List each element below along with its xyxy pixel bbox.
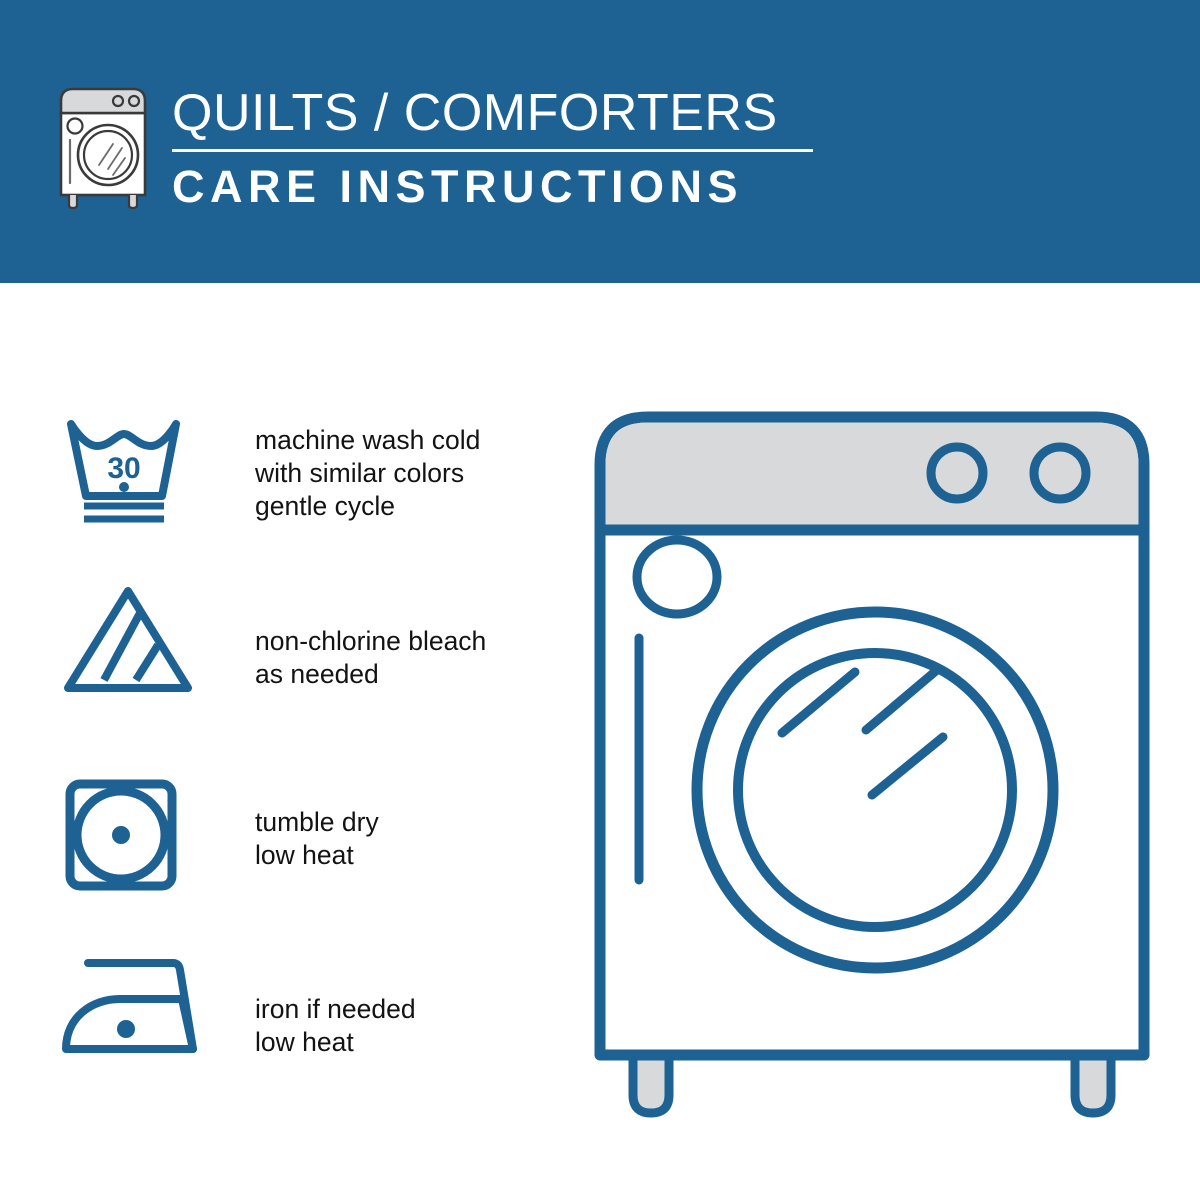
care-item-label: machine wash cold with similar colors ge… <box>255 424 480 523</box>
svg-text:30: 30 <box>107 452 140 485</box>
care-instructions-infographic: QUILTS / COMFORTERS CARE INSTRUCTIONS 30 <box>0 0 1200 1200</box>
care-item-bleach: non-chlorine bleach as needed <box>0 583 560 733</box>
care-item-label: tumble dry low heat <box>255 806 379 872</box>
care-item-machine-wash: 30 machine wash cold with similar colors… <box>0 416 560 566</box>
care-item-iron: iron if needed low heat <box>0 951 560 1101</box>
header-title-block: QUILTS / COMFORTERS CARE INSTRUCTIONS <box>172 83 822 214</box>
bleach-triangle-icon <box>62 583 202 703</box>
washing-machine-icon <box>55 83 159 208</box>
header-banner: QUILTS / COMFORTERS CARE INSTRUCTIONS <box>0 0 1200 283</box>
care-item-label: iron if needed low heat <box>255 993 416 1059</box>
page-subtitle: CARE INSTRUCTIONS <box>172 160 822 214</box>
wash-basin-30-icon: 30 <box>62 416 202 536</box>
care-item-label: non-chlorine bleach as needed <box>255 625 486 691</box>
page-title: QUILTS / COMFORTERS <box>172 83 822 143</box>
iron-low-heat-icon <box>62 951 202 1071</box>
title-divider <box>172 149 813 152</box>
care-item-tumble-dry: tumble dry low heat <box>0 780 560 930</box>
care-symbol-list: 30 machine wash cold with similar colors… <box>0 283 560 1200</box>
front-load-washing-machine-illustration <box>590 395 1170 1125</box>
tumble-dry-low-icon <box>62 780 202 900</box>
